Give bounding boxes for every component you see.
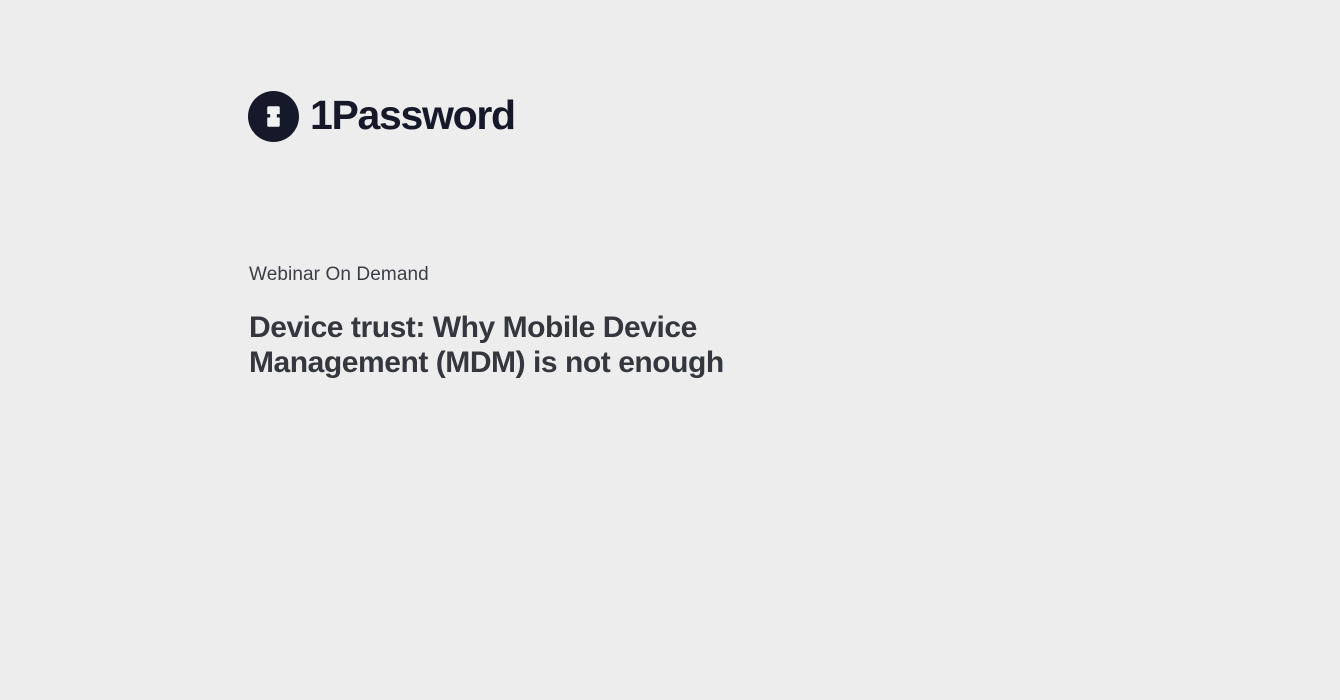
webinar-promo-page: 1Password Webinar On Demand Device trust… <box>0 0 1340 700</box>
brand-wordmark: 1Password <box>310 95 515 136</box>
brand-lockup[interactable]: 1Password <box>248 88 515 144</box>
page-title-line-2: Management (MDM) is not enough <box>249 345 769 380</box>
page-title-line-1: Device trust: Why Mobile Device <box>249 310 769 345</box>
keyhole-circle-icon <box>248 91 299 142</box>
content-eyebrow: Webinar On Demand <box>249 262 809 288</box>
promo-content: Webinar On Demand Device trust: Why Mobi… <box>249 262 809 380</box>
page-title: Device trust: Why Mobile Device Manageme… <box>249 310 769 380</box>
